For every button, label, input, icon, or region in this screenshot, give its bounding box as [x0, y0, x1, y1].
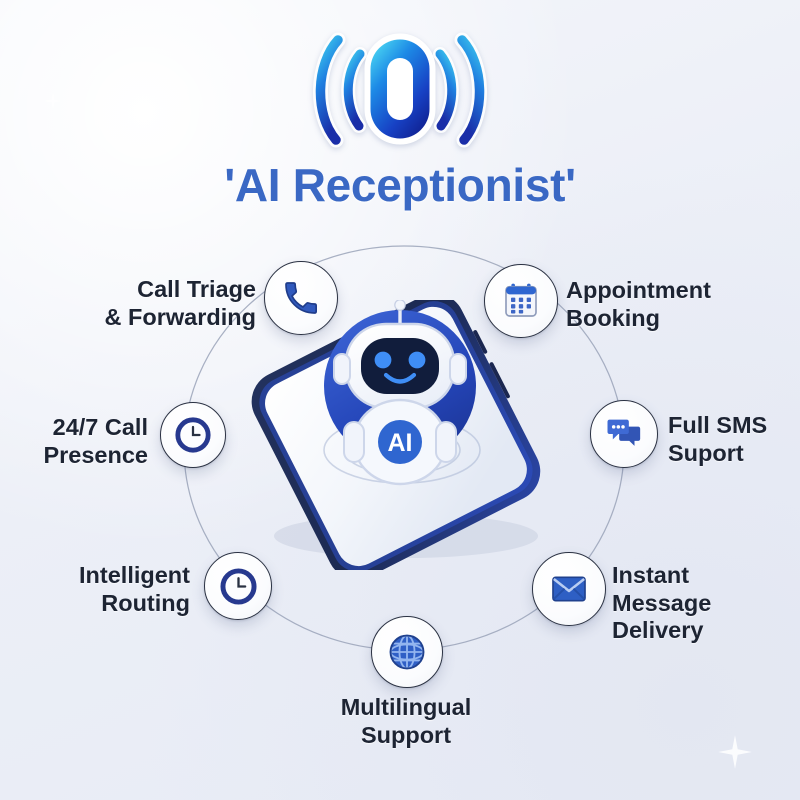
feature-label: Intelligent Routing	[38, 562, 190, 617]
ai-badge-label: AI	[388, 429, 413, 457]
feature-label: Call Triage & Forwarding	[92, 276, 256, 331]
feature-label: 24/7 Call Presence	[0, 414, 148, 469]
phone-icon[interactable]	[264, 261, 338, 335]
sparkle-icon	[718, 735, 752, 769]
feature-label: Instant Message Delivery	[612, 562, 796, 645]
globe-icon[interactable]	[371, 616, 443, 688]
chat-bubbles-icon[interactable]	[590, 400, 658, 468]
calendar-icon[interactable]	[484, 264, 558, 338]
page-title: 'AI Receptionist'	[0, 158, 800, 212]
sound-wave-o-logo	[302, 28, 498, 150]
clock-icon[interactable]	[204, 552, 272, 620]
feature-label: Appointment Booking	[566, 277, 776, 332]
feature-label: Full SMS Suport	[668, 412, 800, 467]
center-illustration: AI	[230, 300, 570, 570]
envelope-icon[interactable]	[532, 552, 606, 626]
clock-icon[interactable]	[160, 402, 226, 468]
sparkle-icon	[44, 92, 62, 110]
feature-label: Multilingual Support	[266, 694, 546, 749]
infographic-canvas: 'AI Receptionist'	[0, 0, 800, 800]
